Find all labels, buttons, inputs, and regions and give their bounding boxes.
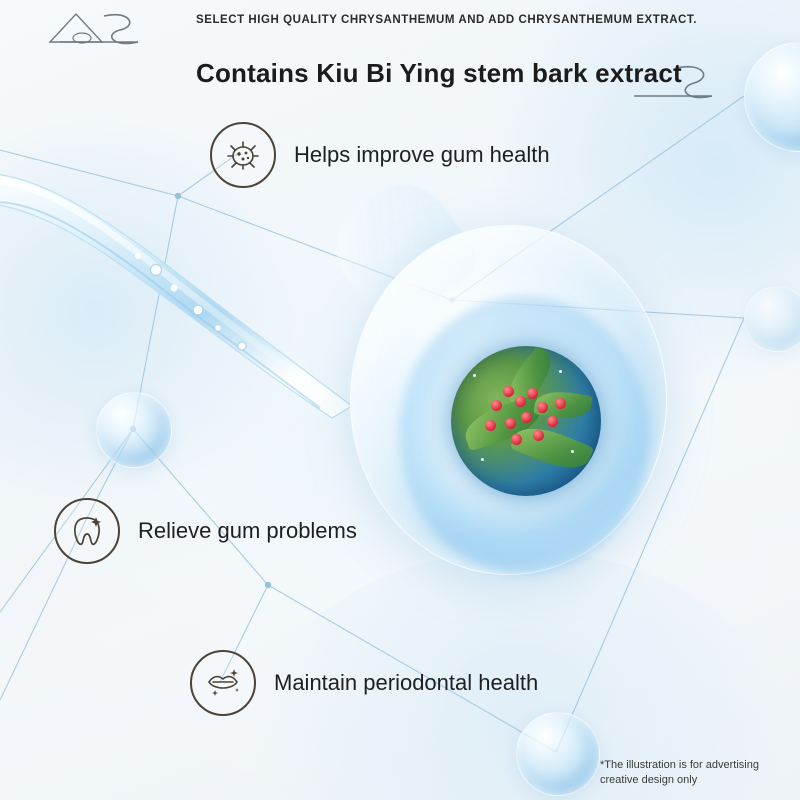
berry-icon — [491, 400, 502, 411]
disclaimer-text: *The illustration is for advertising cre… — [600, 758, 790, 788]
page-title: Contains Kiu Bi Ying stem bark extract — [196, 58, 682, 89]
poster-canvas: SELECT HIGH QUALITY CHRYSANTHEMUM AND AD… — [0, 0, 800, 800]
feature-item-gum-health: Helps improve gum health — [210, 122, 550, 188]
lips-icon — [190, 650, 256, 716]
berry-icon — [515, 396, 526, 407]
bulb-neck — [317, 166, 485, 334]
background-haze-right — [480, 0, 800, 380]
bulb-sphere — [350, 225, 667, 575]
leaf-icon — [533, 388, 592, 422]
feature-label: Relieve gum problems — [138, 518, 357, 544]
feature-item-gum-problems: Relieve gum problems — [54, 498, 357, 564]
bubble-right-mid — [744, 286, 800, 352]
berry-icon — [537, 402, 548, 413]
leaf-icon — [460, 394, 547, 451]
sparkle-icon — [559, 370, 562, 373]
berry-icon — [547, 416, 558, 427]
feature-item-periodontal-health: Maintain periodontal health — [190, 650, 538, 716]
deco-mark-left — [46, 8, 156, 52]
glass-pipette — [0, 160, 390, 420]
bulb-inner-glow — [399, 296, 649, 574]
glass-bulb — [335, 190, 675, 590]
berry-icon — [533, 430, 544, 441]
berry-icon — [521, 412, 532, 423]
sparkle-icon — [481, 458, 484, 461]
leaf-icon — [500, 346, 560, 411]
herb-core — [451, 346, 601, 496]
berry-icon — [505, 418, 516, 429]
feature-label: Helps improve gum health — [294, 142, 550, 168]
leaf-icon — [510, 419, 594, 478]
sparkle-icon — [571, 450, 574, 453]
berry-icon — [511, 434, 522, 445]
bubble-bottom — [516, 712, 600, 796]
berry-icon — [527, 388, 538, 399]
berry-icon — [503, 386, 514, 397]
kicker-text: SELECT HIGH QUALITY CHRYSANTHEMUM AND AD… — [196, 14, 697, 26]
bubble-top-right — [744, 42, 800, 152]
bubble-left-mid — [96, 392, 172, 468]
feature-label: Maintain periodontal health — [274, 670, 538, 696]
bacteria-icon — [210, 122, 276, 188]
sparkle-icon — [473, 374, 476, 377]
tooth-icon — [54, 498, 120, 564]
berry-icon — [555, 398, 566, 409]
berry-icon — [485, 420, 496, 431]
